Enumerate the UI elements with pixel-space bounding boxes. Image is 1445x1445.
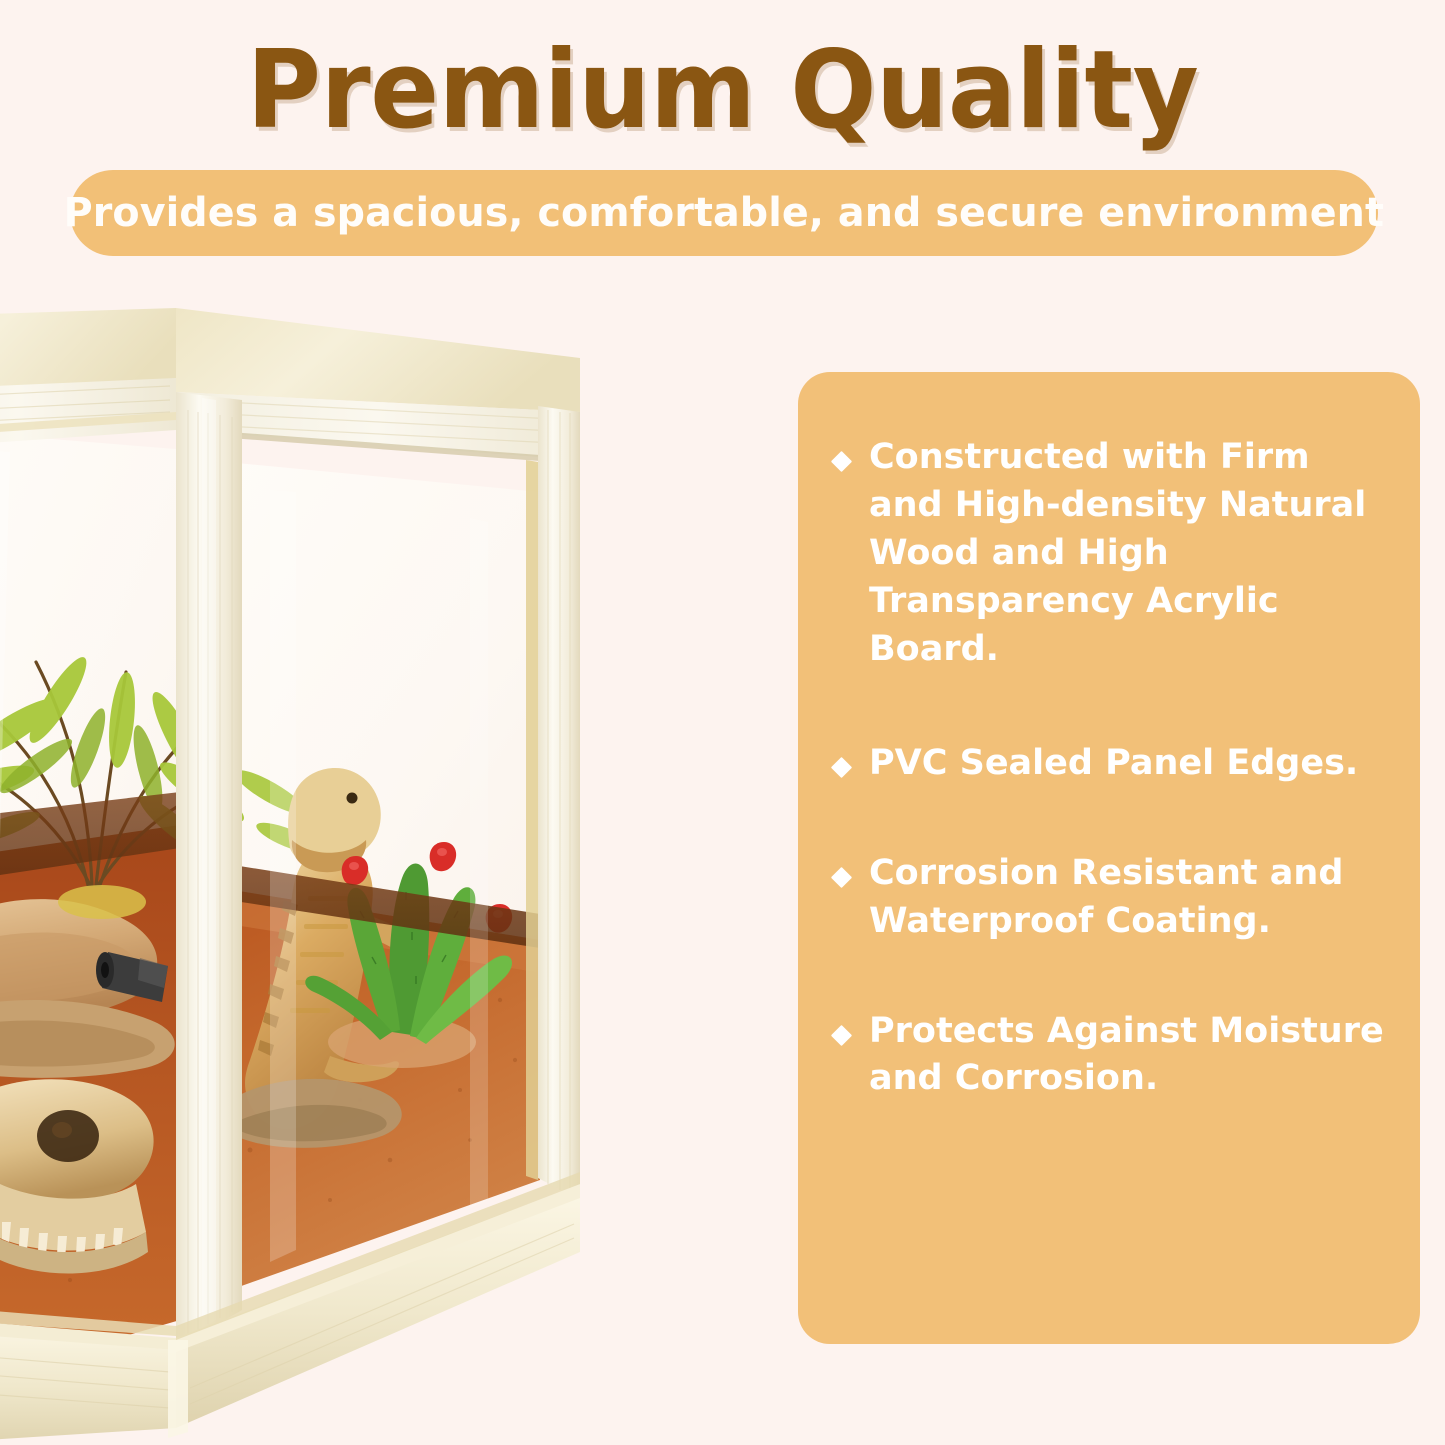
feature-item: Corrosion Resistant and Waterproof Coati… (832, 850, 1394, 946)
feature-item: Protects Against Moisture and Corrosion. (832, 1008, 1394, 1104)
subtitle-banner: Provides a spacious, comfortable, and se… (70, 170, 1378, 256)
page-title: Premium Quality (43, 36, 1401, 146)
product-image (0, 300, 660, 1445)
feature-list: Constructed with Firm and High-density N… (832, 434, 1394, 1103)
feature-item: PVC Sealed Panel Edges. (832, 740, 1394, 788)
feature-item-label: PVC Sealed Panel Edges. (869, 740, 1394, 788)
feature-item: Constructed with Firm and High-density N… (832, 434, 1394, 674)
infographic-page: Premium Quality Provides a spacious, com… (0, 0, 1445, 1445)
feature-item-label: Constructed with Firm and High-density N… (869, 434, 1394, 674)
diamond-bullet-icon (831, 757, 852, 778)
subtitle-text: Provides a spacious, comfortable, and se… (64, 190, 1384, 236)
skull-decor (0, 1079, 154, 1273)
feature-panel: Constructed with Firm and High-density N… (798, 372, 1420, 1344)
terrarium-illustration (0, 300, 660, 1445)
feature-item-label: Corrosion Resistant and Waterproof Coati… (869, 850, 1394, 946)
diamond-bullet-icon (831, 1024, 852, 1045)
diamond-bullet-icon (831, 867, 852, 888)
diamond-bullet-icon (831, 451, 852, 472)
feature-item-label: Protects Against Moisture and Corrosion. (869, 1008, 1394, 1104)
